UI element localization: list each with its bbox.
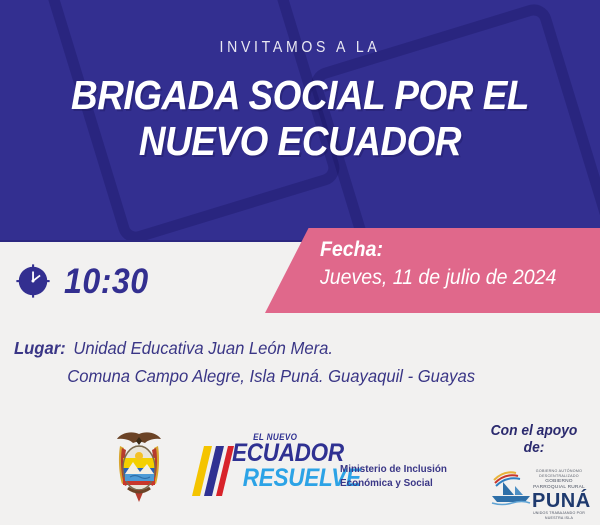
brand-line-1: ECUADOR (232, 441, 331, 466)
kicker-text: INVITAMOS A LA (36, 39, 564, 57)
time-value: 10:30 (64, 264, 149, 299)
puna-main-text: PUNÁ (532, 491, 586, 511)
place-block: Lugar:Unidad Educativa Juan León Mera. C… (14, 334, 556, 390)
ministry-text: Ministerio de Inclusión Económica y Soci… (340, 462, 447, 490)
date-value: Jueves, 11 de julio de 2024 (320, 264, 571, 292)
support-line-2: de: (482, 439, 585, 456)
puna-top-text: GOBIERNO AUTÓNOMO DESCENTRALIZADO (532, 469, 586, 479)
place-line-2: Comuna Campo Alegre, Isla Puná. Guayaqui… (14, 362, 556, 390)
ecuador-flag-stripes-icon (188, 440, 236, 498)
poster-footer: EL NUEVO ECUADOR RESUELVE Ministerio de … (0, 410, 600, 525)
title-line-2: NUEVO ECUADOR (30, 118, 570, 164)
ecuador-coat-of-arms-icon (108, 428, 170, 506)
support-line-1: Con el apoyo (482, 422, 585, 439)
puna-boat-icon (490, 468, 532, 506)
puna-wordmark: GOBIERNO AUTÓNOMO DESCENTRALIZADO GOBIER… (532, 469, 586, 521)
ministry-line-2: Económica y Social (340, 476, 447, 490)
date-text-group: Fecha: Jueves, 11 de julio de 2024 (320, 236, 571, 292)
puna-bottom-text: UNIDOS TRABAJANDO POR NUESTRA ISLA (532, 511, 586, 521)
page-title: BRIGADA SOCIAL POR EL NUEVO ECUADOR (30, 72, 570, 164)
title-line-1: BRIGADA SOCIAL POR EL (71, 72, 529, 118)
clock-icon (14, 262, 52, 300)
place-line-1: Unidad Educativa Juan León Mera. (73, 338, 333, 358)
time-row: 10:30 (14, 262, 156, 300)
place-label: Lugar: (14, 338, 66, 358)
brand-line-2: RESUELVE (232, 466, 331, 491)
ministry-line-1: Ministerio de Inclusión (340, 462, 447, 476)
ecuador-resuelve-logo: EL NUEVO ECUADOR RESUELVE (188, 432, 334, 500)
ecuador-resuelve-wordmark: EL NUEVO ECUADOR RESUELVE (232, 432, 331, 491)
support-label: Con el apoyo de: (482, 422, 585, 456)
puna-logo: GOBIERNO AUTÓNOMO DESCENTRALIZADO GOBIER… (490, 466, 586, 508)
invitation-poster: INVITAMOS A LA BRIGADA SOCIAL POR EL NUE… (0, 0, 600, 525)
date-label: Fecha: (320, 236, 571, 264)
